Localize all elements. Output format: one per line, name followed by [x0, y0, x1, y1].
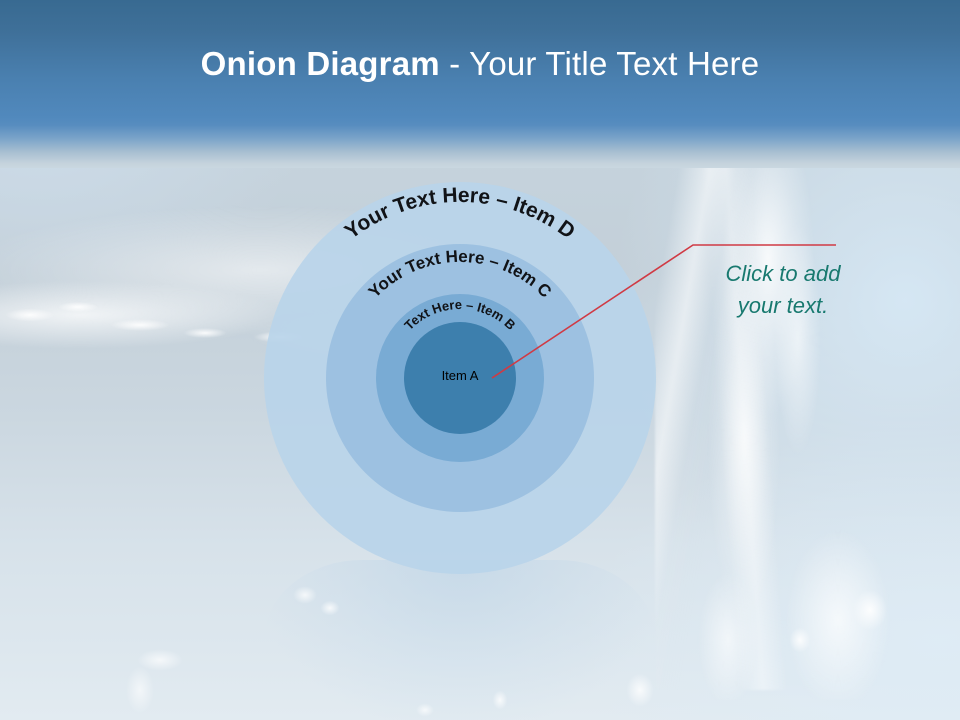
onion-ring-a-label: Item A: [380, 368, 540, 383]
callout-line-1: Click to add: [688, 258, 878, 290]
callout-placeholder[interactable]: Click to add your text.: [688, 258, 878, 322]
slide-canvas: Onion Diagram - Your Title Text Here You…: [0, 0, 960, 720]
callout-line-2: your text.: [688, 290, 878, 322]
onion-diagram: Your Text Here – Item D Your Text Here –…: [0, 0, 960, 720]
